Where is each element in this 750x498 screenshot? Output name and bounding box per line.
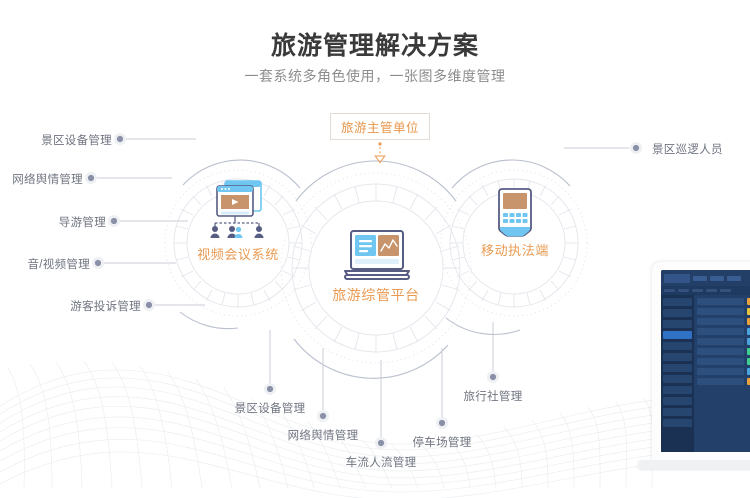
dashboard-main-panel xyxy=(694,295,750,452)
bottom-label-3: 车流人流管理 xyxy=(339,454,423,470)
dashboard-tree-row[interactable] xyxy=(697,348,744,355)
dashboard-sidebar-item[interactable] xyxy=(663,397,692,405)
bottom-label-2: 网络舆情管理 xyxy=(281,427,365,443)
dashboard-body xyxy=(661,295,750,452)
authority-label: 旅游主管单位 xyxy=(341,117,419,136)
laptop-screen xyxy=(661,270,750,452)
dashboard-nav-tab[interactable] xyxy=(710,276,724,281)
dashboard-tree-row[interactable] xyxy=(697,318,744,325)
dashboard-tree-row[interactable] xyxy=(697,358,744,365)
laptop-dashboard-icon xyxy=(339,229,415,283)
dashboard-sidebar-item[interactable] xyxy=(663,353,692,361)
node-caption-video-conference: 视频会议系统 xyxy=(178,244,298,263)
node-caption-mobile-enforcement: 移动执法端 xyxy=(455,240,575,259)
dashboard-tree-row[interactable] xyxy=(697,298,744,305)
bottom-connectors xyxy=(270,322,493,437)
left-label-1: 景区设备管理 xyxy=(0,132,112,148)
dashboard-nav-tab[interactable] xyxy=(693,276,707,281)
dashboard-nav-tab[interactable] xyxy=(727,276,741,281)
left-label-5: 游客投诉管理 xyxy=(0,298,141,314)
dashboard-tree-row[interactable] xyxy=(697,338,744,345)
dashboard-filter-chip[interactable] xyxy=(720,289,731,292)
laptop-base xyxy=(638,460,750,469)
left-label-2: 网络舆情管理 xyxy=(0,171,83,187)
dashboard-sidebar-item[interactable] xyxy=(663,375,692,383)
dashboard-sidebar-item[interactable] xyxy=(663,364,692,372)
dashboard-tree-row[interactable] xyxy=(697,378,744,385)
dashboard-sidebar-item[interactable] xyxy=(663,309,692,317)
bottom-label-4: 停车场管理 xyxy=(400,434,484,450)
right-connector-dots xyxy=(630,142,642,154)
dashboard-logo xyxy=(664,274,690,283)
dashboard-filter-chip[interactable] xyxy=(664,289,675,292)
dashboard-filter-chip[interactable] xyxy=(706,289,717,292)
dashboard-sidebar-item[interactable] xyxy=(663,386,692,394)
dashboard-subbar xyxy=(661,286,750,295)
solution-diagram-page: 旅游管理解决方案 一套系统多角色使用，一张图多维度管理 xyxy=(0,0,750,498)
dashboard-tree-row[interactable] xyxy=(697,328,744,335)
dashboard-sidebar xyxy=(661,295,694,452)
arrow-down-icon xyxy=(372,142,388,164)
bottom-label-5: 旅行社管理 xyxy=(451,388,535,404)
bottom-label-1: 景区设备管理 xyxy=(228,400,312,416)
dashboard-sidebar-item[interactable] xyxy=(663,320,692,328)
dashboard-sidebar-item[interactable] xyxy=(663,408,692,416)
dashboard-tree-row[interactable] xyxy=(697,368,744,375)
dashboard-tree-row[interactable] xyxy=(697,308,744,315)
left-label-3: 导游管理 xyxy=(0,214,106,230)
dashboard-sidebar-item[interactable] xyxy=(663,342,692,350)
authority-box[interactable]: 旅游主管单位 xyxy=(330,113,430,140)
dashboard-sidebar-item-selected[interactable] xyxy=(663,331,692,339)
video-conference-icon xyxy=(203,178,273,240)
dashboard-sidebar-item[interactable] xyxy=(663,419,692,427)
right-label-1: 景区巡逻人员 xyxy=(652,141,723,157)
dashboard-sidebar-item[interactable] xyxy=(663,298,692,306)
dashboard-filter-chip[interactable] xyxy=(678,289,689,292)
admin-dashboard-laptop xyxy=(652,262,750,477)
left-label-4: 音/视频管理 xyxy=(0,256,90,272)
dashboard-filter-chip[interactable] xyxy=(692,289,703,292)
dashboard-tree-column xyxy=(697,298,744,449)
node-caption-tourism-platform: 旅游综管平台 xyxy=(316,285,436,305)
dashboard-topbar xyxy=(661,270,750,286)
handheld-terminal-icon xyxy=(493,186,537,244)
laptop-bezel xyxy=(652,262,750,460)
